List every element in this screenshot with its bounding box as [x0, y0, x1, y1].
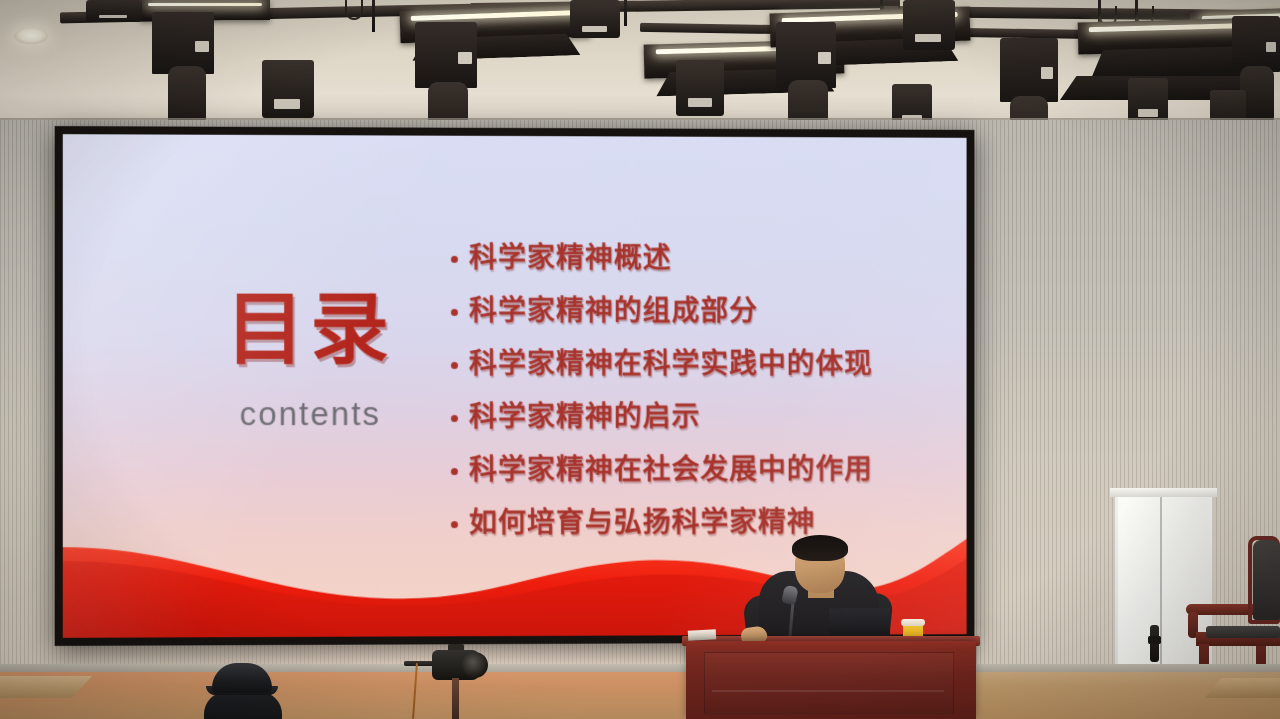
list-item-label: 科学家精神的启示 [469, 403, 700, 431]
truss-drop-rod [624, 0, 627, 26]
list-item: 科学家精神在科学实践中的体现 [451, 350, 918, 378]
list-item-label: 科学家精神的组成部分 [469, 297, 758, 325]
list-item-label: 科学家精神概述 [469, 244, 672, 272]
bullet-dot-icon [451, 309, 458, 316]
list-item-label: 科学家精神在科学实践中的体现 [469, 350, 873, 378]
spotlight-yoke [415, 22, 477, 88]
spotlight-yoke [1232, 16, 1280, 72]
chair-seat-cushion [1206, 626, 1280, 638]
slide-title: 目录 [174, 290, 446, 369]
chair-backrest [1253, 540, 1280, 620]
spotlight-yoke [776, 22, 836, 88]
white-door[interactable] [1118, 497, 1209, 680]
list-item: 科学家精神在社会发展中的作用 [451, 456, 918, 485]
audience-member [204, 692, 282, 719]
stage-floor-glow [0, 672, 700, 719]
lectern-trim-line [712, 690, 944, 692]
par-can-light [676, 60, 724, 116]
truss-drop-rod [372, 0, 375, 32]
bullet-dot-icon [451, 415, 458, 422]
list-item-label: 科学家精神在社会发展中的作用 [469, 456, 873, 484]
par-can-light [570, 0, 620, 38]
list-item: 科学家精神的组成部分 [451, 297, 918, 325]
lectern-front-panel [704, 652, 954, 714]
bullet-dot-icon [451, 468, 458, 475]
drink-cup-lid [901, 619, 925, 626]
lectern-papers [688, 629, 716, 640]
par-can-light [86, 0, 142, 22]
par-can-light [903, 0, 955, 50]
slide-subtitle: contents [174, 395, 446, 433]
list-item: 科学家精神的启示 [451, 403, 918, 431]
spotlight-yoke [1000, 38, 1058, 102]
bullet-dot-icon [451, 362, 458, 369]
list-item: 科学家精神概述 [451, 244, 918, 273]
lecture-hall-scene: 目录 contents 科学家精神概述 科学家精神的组成部分 科学家精神在科学实… [0, 0, 1280, 719]
recessed-ceiling-light-icon [14, 28, 48, 44]
slide-title-block: 目录 contents [174, 290, 446, 433]
door-edge-gap [1160, 497, 1162, 680]
tripod-leg [452, 678, 459, 719]
spotlight-yoke [152, 12, 214, 74]
presenter-hair [792, 535, 848, 561]
door-handle-icon[interactable] [1150, 625, 1159, 662]
bullet-dot-icon [451, 256, 458, 263]
door-header-trim [1110, 488, 1217, 497]
camera-lens-icon [462, 652, 488, 678]
par-can-light [262, 60, 314, 118]
truss-hook-icon [345, 0, 363, 20]
